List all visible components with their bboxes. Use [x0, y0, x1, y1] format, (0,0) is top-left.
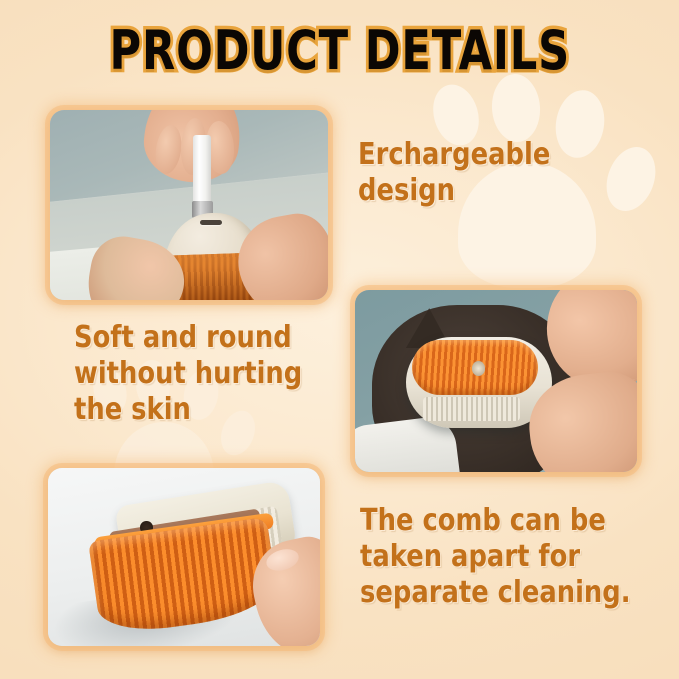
poster-title-container: PRODUCT DETAILS — [0, 22, 679, 80]
photo-holding-brush — [355, 290, 637, 472]
paw-toe — [551, 87, 609, 162]
paw-toe — [490, 72, 543, 143]
paw-toe — [598, 140, 664, 218]
detached-scene — [48, 468, 320, 646]
photo-charging-brush — [50, 110, 328, 300]
caption-soft-and-round: Soft and round without hurting the skin — [74, 320, 302, 428]
ribbed-grip — [423, 397, 520, 421]
product-details-poster: PRODUCT DETAILS — [0, 0, 679, 679]
charging-scene — [50, 110, 328, 300]
charging-port — [200, 220, 222, 225]
holding-scene — [355, 290, 637, 472]
caption-comb-separate-cleaning: The comb can be taken apart for separate… — [360, 503, 631, 611]
photo-detached-comb — [48, 468, 320, 646]
steam-outlet-hole — [472, 361, 485, 376]
page-title: PRODUCT DETAILS — [109, 22, 569, 80]
caption-rechargeable-design: Erchargeable design — [358, 137, 550, 209]
